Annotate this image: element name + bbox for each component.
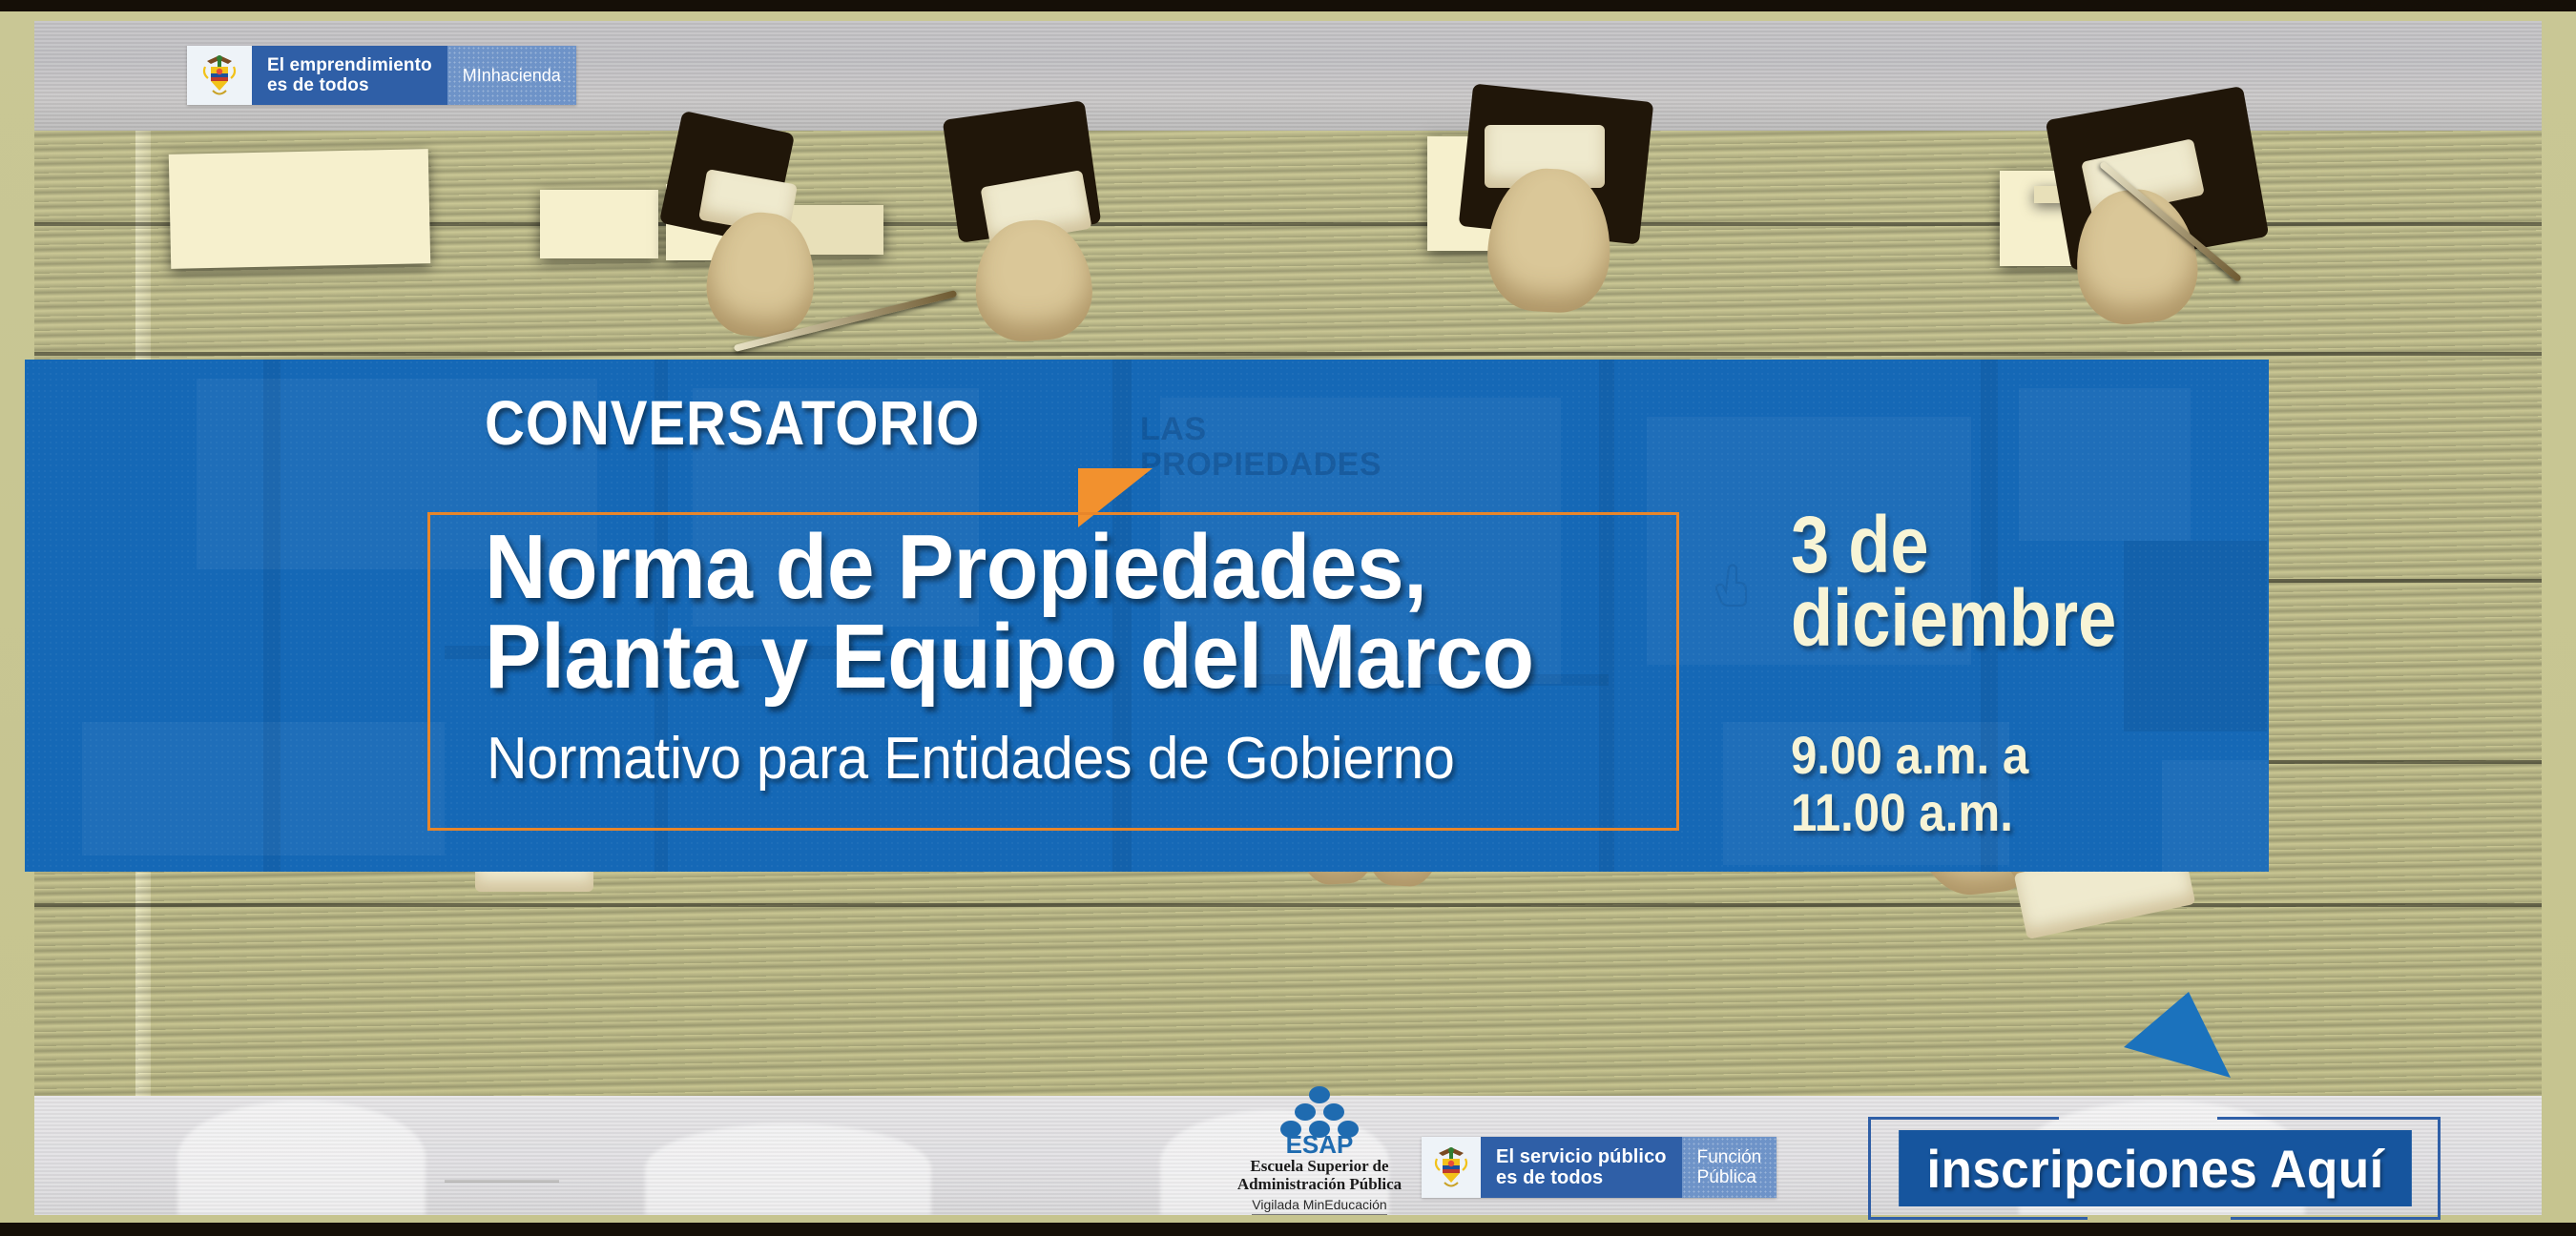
banner-title-line1: Norma de Propiedades,: [485, 516, 1426, 618]
event-date-line2: diciembre: [1791, 573, 2116, 663]
poster-canvas: El emprendimiento es de todos MInhaciend…: [0, 0, 2576, 1236]
paper-sheet: [169, 149, 430, 269]
esap-name: Escuela Superior de Administración Públi…: [1229, 1157, 1410, 1193]
colombia-coat-of-arms-icon: [1422, 1137, 1481, 1198]
event-hours-line2: 11.00 a.m.: [1791, 782, 2013, 842]
event-date: 3 de diciembre: [1791, 508, 2169, 656]
blue-triangle-accent: [2124, 992, 2248, 1078]
fp-slogan-line1: El servicio público: [1496, 1146, 1667, 1167]
gov-header-logo: El emprendimiento es de todos MInhaciend…: [187, 46, 576, 105]
fp-entity-line1: Función: [1697, 1147, 1762, 1167]
gov-slogan-line2: es de todos: [267, 75, 369, 95]
gov-entity-name: MInhacienda: [447, 46, 576, 105]
esap-acronym: ESAP: [1286, 1130, 1354, 1155]
inscriptions-button[interactable]: inscripciones Aquí: [1899, 1130, 2412, 1206]
esap-name-line2: Administración Pública: [1237, 1175, 1402, 1193]
colombia-coat-of-arms-icon: [187, 46, 252, 105]
frame-bottom-strip: [0, 1223, 2576, 1236]
esap-vigilance-note: Vigilada MinEducación: [1252, 1197, 1386, 1215]
fp-slogan-line2: es de todos: [1496, 1167, 1603, 1188]
banner-subtitle: Normativo para Entidades de Gobierno: [487, 730, 1629, 789]
fp-slogan: El servicio público es de todos: [1481, 1137, 1682, 1198]
esap-logo: ESAP Escuela Superior de Administración …: [1229, 1086, 1410, 1215]
fp-entity-name: Función Pública: [1682, 1137, 1777, 1198]
paper-sheet: [540, 190, 658, 258]
banner-kicker: CONVERSATORIO: [485, 386, 980, 459]
gov-slogan: El emprendimiento es de todos: [252, 46, 447, 105]
cta-container: inscripciones Aquí: [1868, 1117, 2441, 1220]
event-hours: 9.00 a.m. a 11.00 a.m.: [1791, 727, 2186, 841]
funcion-publica-logo: El servicio público es de todos Función …: [1422, 1137, 1776, 1198]
pointing-hand-icon: [1715, 562, 1754, 608]
esap-name-line1: Escuela Superior de: [1250, 1157, 1388, 1175]
esap-pyramid-icon: ESAP: [1248, 1086, 1391, 1155]
event-hours-line1: 9.00 a.m. a: [1791, 725, 2028, 785]
fp-entity-line2: Pública: [1697, 1167, 1756, 1187]
banner-title-line2: Planta y Equipo del Marco: [485, 606, 1534, 708]
banner-title: Norma de Propiedades, Planta y Equipo de…: [485, 523, 1576, 702]
gov-slogan-line1: El emprendimiento: [267, 55, 432, 75]
frame-top-strip: [0, 0, 2576, 11]
